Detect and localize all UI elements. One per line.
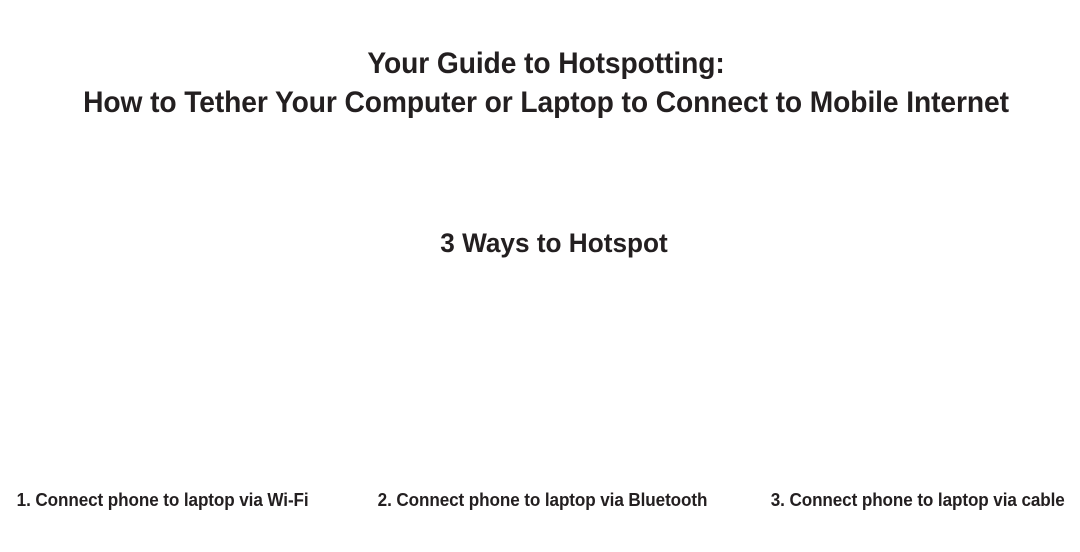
illustration-band <box>0 280 1080 476</box>
cable-tether-illustration <box>720 280 1080 476</box>
step-3: 3. Connect phone to laptop via cable <box>738 488 1080 512</box>
step-2: 2. Connect phone to laptop via Bluetooth <box>362 488 722 512</box>
step-1: 1. Connect phone to laptop via Wi-Fi <box>0 488 343 512</box>
step-3-caption: 3. Connect phone to laptop via cable <box>771 488 1065 512</box>
step-1-caption: 1. Connect phone to laptop via Wi-Fi <box>17 488 309 512</box>
page-title: Your Guide to Hotspotting: How to Tether… <box>0 44 1080 122</box>
section-heading: 3 Ways to Hotspot <box>17 226 1080 260</box>
step-caption-row: 1. Connect phone to laptop via Wi-Fi 2. … <box>0 488 1080 512</box>
infographic-page: Your Guide to Hotspotting: How to Tether… <box>0 0 1080 552</box>
page-title-line-2: How to Tether Your Computer or Laptop to… <box>33 83 1059 122</box>
bluetooth-tether-illustration <box>360 280 720 476</box>
wifi-tether-illustration <box>0 280 360 476</box>
step-2-caption: 2. Connect phone to laptop via Bluetooth <box>377 488 707 512</box>
page-title-line-1: Your Guide to Hotspotting: <box>33 44 1059 83</box>
